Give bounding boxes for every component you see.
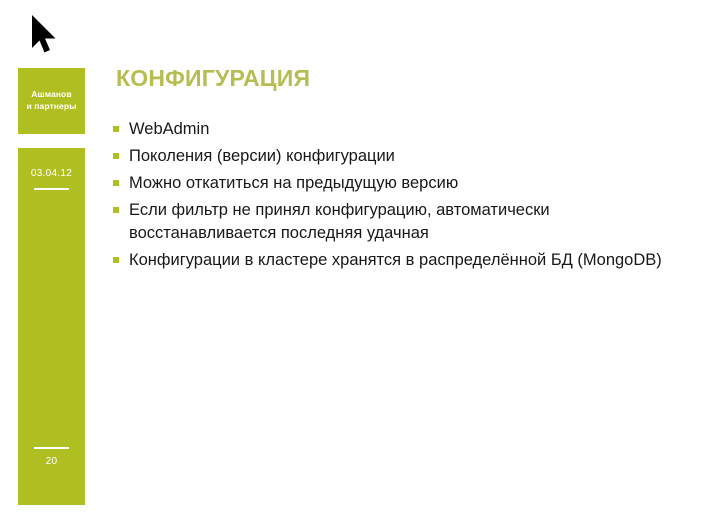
slide-title: КОНФИГУРАЦИЯ <box>116 65 310 92</box>
bullet-square-icon <box>113 126 119 132</box>
list-item-label: Поколения (версии) конфигурации <box>129 145 700 168</box>
bullet-square-icon <box>113 257 119 263</box>
list-item: Конфигурации в кластере хранятся в распр… <box>110 249 700 272</box>
list-item: Поколения (версии) конфигурации <box>110 145 700 168</box>
slide-bullet-list: WebAdmin Поколения (версии) конфигурации… <box>110 118 700 276</box>
bullet-square-icon <box>113 180 119 186</box>
list-item: WebAdmin <box>110 118 700 141</box>
bullet-square-icon <box>113 153 119 159</box>
company-logo-line-2: и партнеры <box>26 101 76 111</box>
company-logo-block: Ашманов и партнеры <box>18 68 85 134</box>
date-divider <box>34 188 69 190</box>
list-item-label: Конфигурации в кластере хранятся в распр… <box>129 249 700 272</box>
list-item-label: WebAdmin <box>129 118 700 141</box>
list-item: Можно откатиться на предыдущую версию <box>110 172 700 195</box>
slide-page-number: 20 <box>18 456 85 467</box>
presentation-slide: Ашманов и партнеры 03.04.12 20 КОНФИГУРА… <box>0 0 728 527</box>
sidebar-rail: 03.04.12 20 <box>18 148 85 505</box>
bullet-square-icon <box>113 207 119 213</box>
list-item-label: Можно откатиться на предыдущую версию <box>129 172 700 195</box>
page-number-divider <box>34 447 69 449</box>
company-logo-text: Ашманов и партнеры <box>18 89 85 112</box>
list-item-label: Если фильтр не принял конфигурацию, авто… <box>129 199 700 245</box>
list-item: Если фильтр не принял конфигурацию, авто… <box>110 199 700 245</box>
slide-date: 03.04.12 <box>18 168 85 179</box>
company-logo-line-1: Ашманов <box>31 89 71 99</box>
arrow-pointer-icon <box>28 12 62 58</box>
